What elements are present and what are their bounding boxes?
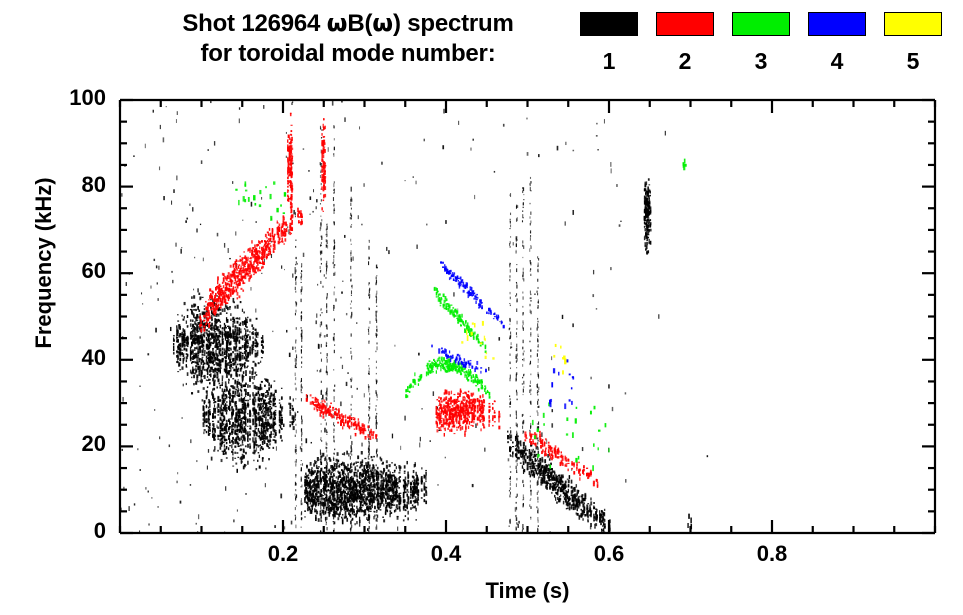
y-tick-label-20: 20 — [40, 431, 106, 457]
y-tick-label-100: 100 — [40, 85, 106, 111]
x-tick-label-0p8: 0.8 — [737, 541, 807, 567]
plot-axes-layer — [0, 0, 963, 615]
spectrogram-figure: Shot 126964 ωB(ω) spectrum for toroidal … — [0, 0, 963, 615]
y-tick-label-0: 0 — [40, 518, 106, 544]
x-tick-label-0p2: 0.2 — [248, 541, 318, 567]
x-axis-title: Time (s) — [120, 578, 935, 604]
x-tick-label-0p6: 0.6 — [574, 541, 644, 567]
x-tick-label-0p4: 0.4 — [411, 541, 481, 567]
y-tick-label-60: 60 — [40, 258, 106, 284]
y-tick-label-40: 40 — [40, 345, 106, 371]
y-tick-label-80: 80 — [40, 172, 106, 198]
